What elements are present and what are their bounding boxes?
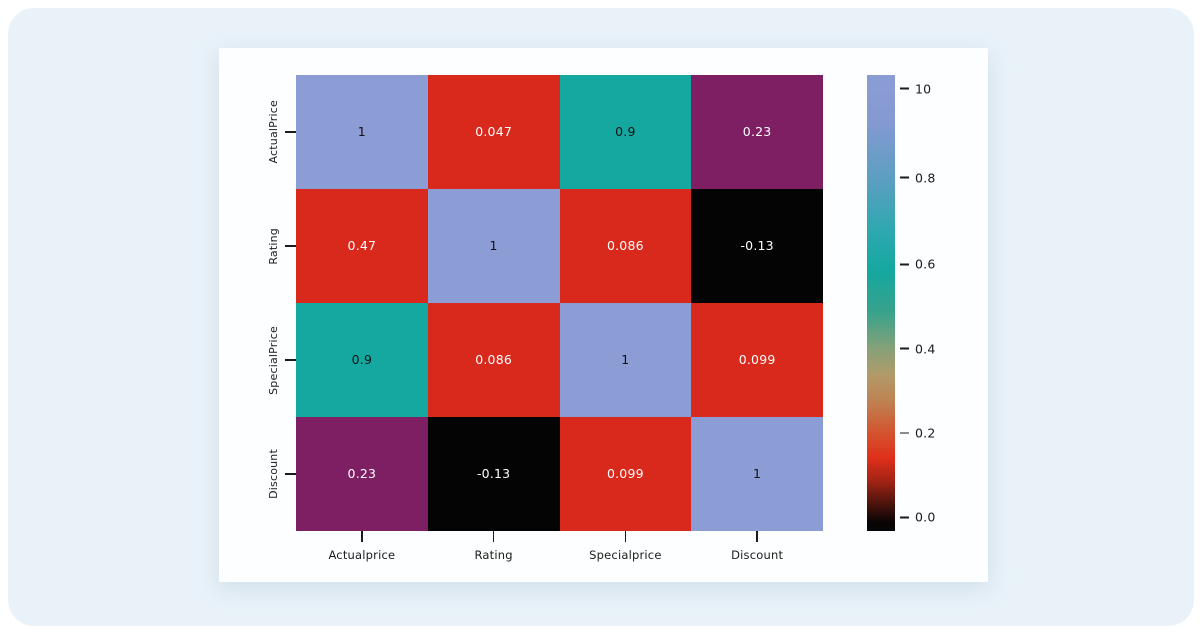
colorbar-tick-1: 0.8 xyxy=(895,170,935,185)
colorbar: 10 0.8 0.6 0.4 0.2 xyxy=(867,75,895,531)
x-tick-0: Actualprice xyxy=(296,531,428,562)
x-tick-mark-0 xyxy=(361,531,363,542)
colorbar-tick-3: 0.4 xyxy=(895,341,935,356)
colorbar-tick-label-0: 10 xyxy=(915,81,931,96)
colorbar-tick-mark-1 xyxy=(900,177,909,179)
colorbar-tick-mark-5 xyxy=(900,517,909,519)
heatmap-cell[interactable]: 0.9 xyxy=(560,75,692,189)
heatmap-cell-value: 1 xyxy=(358,126,366,139)
heatmap-cell[interactable]: 1 xyxy=(691,417,823,531)
heatmap-cell[interactable]: 0.23 xyxy=(691,75,823,189)
y-tick-label-1: Rating xyxy=(267,228,280,265)
heatmap-cell[interactable]: 0.086 xyxy=(560,189,692,303)
heatmap-cell-value: 1 xyxy=(490,240,498,253)
y-tick-mark-2 xyxy=(285,359,296,361)
heatmap-cell[interactable]: 1 xyxy=(296,75,428,189)
y-tick-1: Rating xyxy=(219,189,296,303)
colorbar-tick-label-1: 0.8 xyxy=(915,170,935,185)
heatmap-cell[interactable]: 0.099 xyxy=(560,417,692,531)
x-tick-1: Rating xyxy=(428,531,560,562)
heatmap-cell-value: 0.086 xyxy=(607,240,644,253)
heatmap-figure: ActualPrice Rating SpecialPrice Discount… xyxy=(219,48,988,582)
heatmap-cell-value: 1 xyxy=(753,468,761,481)
colorbar-tick-label-3: 0.4 xyxy=(915,341,935,356)
heatmap-cell-value: 0.086 xyxy=(475,354,512,367)
colorbar-tick-mark-0 xyxy=(900,88,909,90)
colorbar-gradient xyxy=(867,75,895,531)
x-tick-mark-3 xyxy=(756,531,758,542)
heatmap-cell[interactable]: 0.099 xyxy=(691,303,823,417)
x-tick-label-3: Discount xyxy=(731,548,783,562)
y-tick-mark-1 xyxy=(285,245,296,247)
x-tick-mark-2 xyxy=(625,531,627,542)
heatmap-cell-value: 0.23 xyxy=(348,468,377,481)
heatmap-cell-value: 0.23 xyxy=(743,126,772,139)
chart-card: ActualPrice Rating SpecialPrice Discount… xyxy=(219,48,988,582)
colorbar-tick-label-5: 0.0 xyxy=(915,510,935,525)
y-tick-label-0: ActualPrice xyxy=(267,100,280,164)
colorbar-tick-4: 0.2 xyxy=(895,425,935,440)
heatmap-cell[interactable]: 0.23 xyxy=(296,417,428,531)
heatmap-cell[interactable]: 0.086 xyxy=(428,303,560,417)
colorbar-tick-0: 10 xyxy=(895,81,931,96)
heatmap-cell[interactable]: 0.47 xyxy=(296,189,428,303)
x-tick-3: Discount xyxy=(691,531,823,562)
heatmap-cell-value: 0.047 xyxy=(475,126,512,139)
heatmap-cell-value: 0.099 xyxy=(739,354,776,367)
colorbar-tick-mark-2 xyxy=(900,263,909,265)
x-tick-label-0: Actualprice xyxy=(328,548,395,562)
heatmap-cell-value: 0.47 xyxy=(348,240,377,253)
heatmap-cell[interactable]: 1 xyxy=(428,189,560,303)
heatmap-cell[interactable]: -0.13 xyxy=(691,189,823,303)
heatmap-cell-value: 1 xyxy=(621,354,629,367)
heatmap-cell[interactable]: 0.9 xyxy=(296,303,428,417)
colorbar-tick-2: 0.6 xyxy=(895,257,935,272)
y-tick-label-2: SpecialPrice xyxy=(267,326,280,395)
heatmap-cell-value: 0.9 xyxy=(352,354,372,367)
y-tick-mark-0 xyxy=(285,131,296,133)
y-tick-3: Discount xyxy=(219,417,296,531)
heatmap-cell-value: -0.13 xyxy=(740,240,773,253)
y-tick-label-3: Discount xyxy=(267,449,280,499)
y-tick-mark-3 xyxy=(285,473,296,475)
heatmap-cell[interactable]: 1 xyxy=(560,303,692,417)
heatmap-cell-value: 0.099 xyxy=(607,468,644,481)
heatmap-grid: 1 0.047 0.9 0.23 0.47 1 0.086 -0.13 0.9 … xyxy=(296,75,823,531)
x-tick-label-2: Specialprice xyxy=(589,548,661,562)
heatmap-cell[interactable]: -0.13 xyxy=(428,417,560,531)
x-tick-mark-1 xyxy=(493,531,495,542)
colorbar-tick-5: 0.0 xyxy=(895,510,935,525)
colorbar-tick-label-2: 0.6 xyxy=(915,257,935,272)
page-root: ActualPrice Rating SpecialPrice Discount… xyxy=(0,0,1202,634)
y-tick-2: SpecialPrice xyxy=(219,303,296,417)
heatmap-cell[interactable]: 0.047 xyxy=(428,75,560,189)
colorbar-tick-mark-4 xyxy=(900,432,909,434)
colorbar-tick-label-4: 0.2 xyxy=(915,425,935,440)
heatmap-cell-value: -0.13 xyxy=(477,468,510,481)
y-tick-0: ActualPrice xyxy=(219,75,296,189)
x-tick-2: Specialprice xyxy=(560,531,692,562)
x-tick-label-1: Rating xyxy=(474,548,512,562)
heatmap-cell-value: 0.9 xyxy=(615,126,635,139)
colorbar-tick-mark-3 xyxy=(900,348,909,350)
